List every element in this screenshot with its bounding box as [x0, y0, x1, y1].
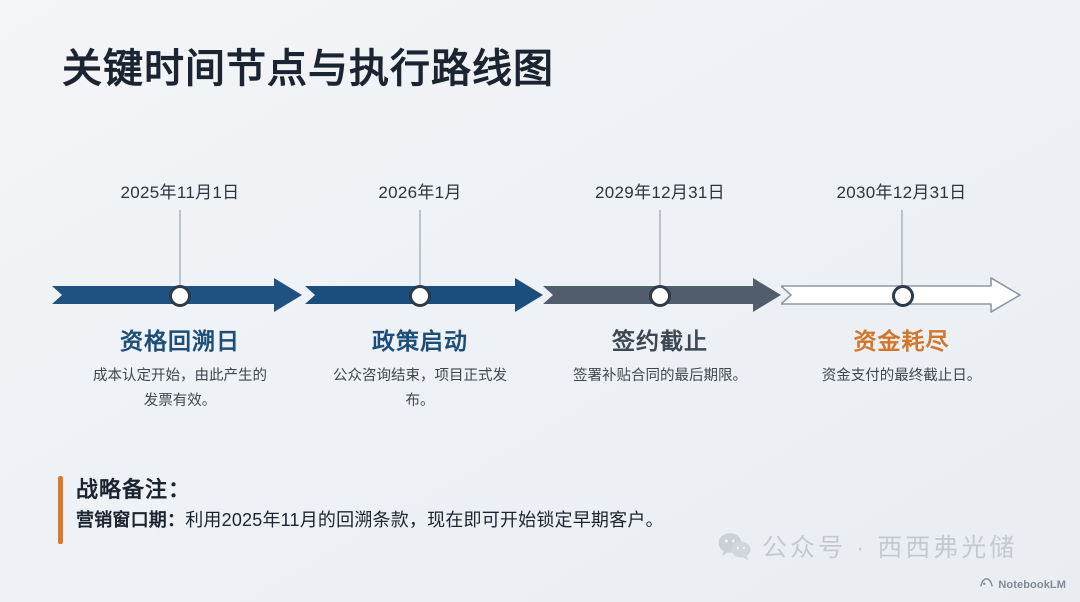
milestone-stem: [660, 210, 661, 285]
wechat-icon: [718, 531, 752, 561]
milestone-date: 2025年11月1日: [60, 180, 300, 206]
page-title-container: 关键时间节点与执行路线图: [62, 44, 554, 94]
milestone-stem: [180, 210, 181, 285]
notebooklm-label: NotebookLM: [998, 579, 1066, 591]
strategy-note-text: 利用2025年11月的回溯条款，现在即可开始锁定早期客户。: [185, 510, 664, 530]
strategy-note-accent-bar: [58, 476, 63, 544]
strategy-note-heading: 战略备注：: [76, 473, 664, 506]
milestone-description: 成本认定开始，由此产生的发票有效。: [86, 364, 274, 415]
milestone-description: 公众咨询结束，项目正式发布。: [326, 364, 514, 415]
milestone-stem: [901, 210, 902, 285]
timeline-diagram: 2025年11月1日 资格回溯日 成本认定开始，由此产生的发票有效。 2026年…: [0, 180, 1080, 450]
strategy-note-body: 营销窗口期：利用2025年11月的回溯条款，现在即可开始锁定早期客户。: [76, 506, 664, 535]
milestone-1: 2025年11月1日 资格回溯日 成本认定开始，由此产生的发票有效。: [60, 180, 300, 206]
page-title: 关键时间节点与执行路线图: [62, 44, 554, 94]
notebooklm-badge: NotebookLM: [980, 576, 1066, 594]
milestone-description: 资金支付的最终截止日。: [808, 364, 996, 389]
timeline-axis: [0, 275, 1080, 315]
strategy-note-label: 营销窗口期：: [76, 510, 185, 530]
milestone-date: 2030年12月31日: [780, 180, 1023, 206]
timeline-columns: 2025年11月1日 资格回溯日 成本认定开始，由此产生的发票有效。 2026年…: [0, 180, 1080, 206]
wechat-watermark: 公众号 · 西西弗光储: [718, 528, 1017, 564]
timeline-node-2: [409, 285, 431, 307]
milestone-title: 政策启动: [300, 322, 540, 356]
notebooklm-logo-icon: [980, 576, 993, 594]
milestone-title: 签约截止: [540, 322, 780, 356]
milestone-2: 2026年1月 政策启动 公众咨询结束，项目正式发布。: [300, 180, 540, 206]
milestone-title: 资格回溯日: [60, 322, 300, 356]
milestone-stem: [420, 210, 421, 285]
milestone-date: 2029年12月31日: [540, 180, 780, 206]
timeline-node-4: [892, 285, 914, 307]
milestone-4: 2030年12月31日 资金耗尽 资金支付的最终截止日。: [780, 180, 1023, 206]
watermark-text: 公众号 · 西西弗光储: [762, 528, 1017, 564]
timeline-node-1: [169, 285, 191, 307]
milestone-date: 2026年1月: [300, 180, 540, 206]
milestone-3: 2029年12月31日 签约截止 签署补贴合同的最后期限。: [540, 180, 780, 206]
timeline-node-3: [649, 285, 671, 307]
milestone-description: 签署补贴合同的最后期限。: [566, 364, 754, 389]
strategy-note: 战略备注： 营销窗口期：利用2025年11月的回溯条款，现在即可开始锁定早期客户…: [58, 473, 664, 535]
milestone-title: 资金耗尽: [780, 322, 1023, 356]
